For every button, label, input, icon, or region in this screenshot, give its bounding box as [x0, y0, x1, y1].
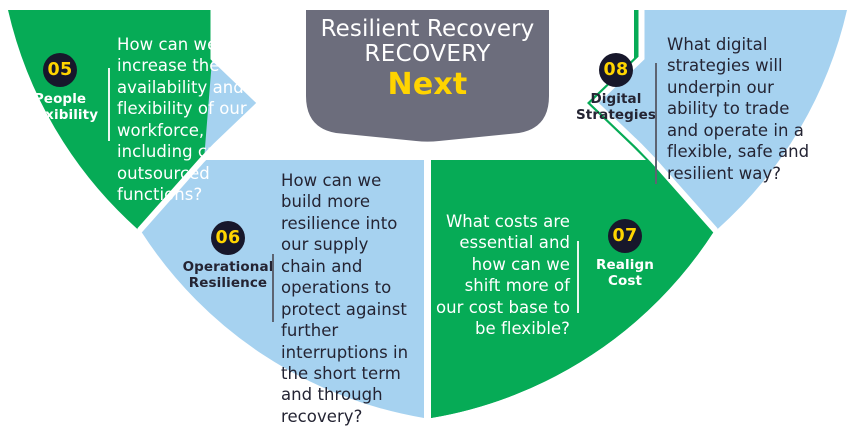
segment-title-06-line2: Resilience	[176, 276, 280, 292]
segment-label-06[interactable]: 06 Operational Resilience	[176, 221, 280, 292]
segment-title-08-line1: Digital	[570, 92, 662, 108]
segment-badge-07: 07	[608, 219, 642, 253]
segment-divider-06	[272, 254, 274, 322]
segment-badge-08: 08	[599, 53, 633, 87]
resilient-recovery-diagram: Resilient Recovery RECOVERY Next 05 Peop…	[0, 0, 855, 436]
segment-question-08: What digital strategies will underpin ou…	[667, 34, 822, 184]
segment-title-08-line2: Strategies	[570, 108, 662, 124]
center-hub-text: Resilient Recovery RECOVERY Next	[300, 8, 555, 101]
hub-title-line2: RECOVERY	[300, 42, 555, 67]
segment-title-07-line2: Cost	[585, 274, 665, 290]
segment-title-05-line2: Flexibility	[14, 108, 106, 124]
segment-question-06: How can we build more resilience into ou…	[281, 170, 413, 427]
segment-divider-08	[655, 63, 657, 184]
segment-title-06-line1: Operational	[176, 260, 280, 276]
segment-label-05[interactable]: 05 People Flexibility	[14, 53, 106, 124]
segment-title-05-line1: People	[14, 92, 106, 108]
segment-title-07-line1: Realign	[585, 258, 665, 274]
segment-question-07: What costs are essential and how can we …	[434, 211, 570, 340]
segment-divider-07	[577, 241, 579, 313]
segment-badge-05: 05	[43, 53, 77, 87]
segment-label-08[interactable]: 08 Digital Strategies	[570, 53, 662, 124]
hub-title-line1: Resilient Recovery	[300, 17, 555, 42]
segment-badge-06: 06	[211, 221, 245, 255]
segment-divider-05	[108, 68, 110, 141]
hub-title-next: Next	[300, 68, 555, 102]
segment-label-07[interactable]: 07 Realign Cost	[585, 219, 665, 290]
segment-question-05: How can we increase the availability and…	[117, 34, 269, 206]
